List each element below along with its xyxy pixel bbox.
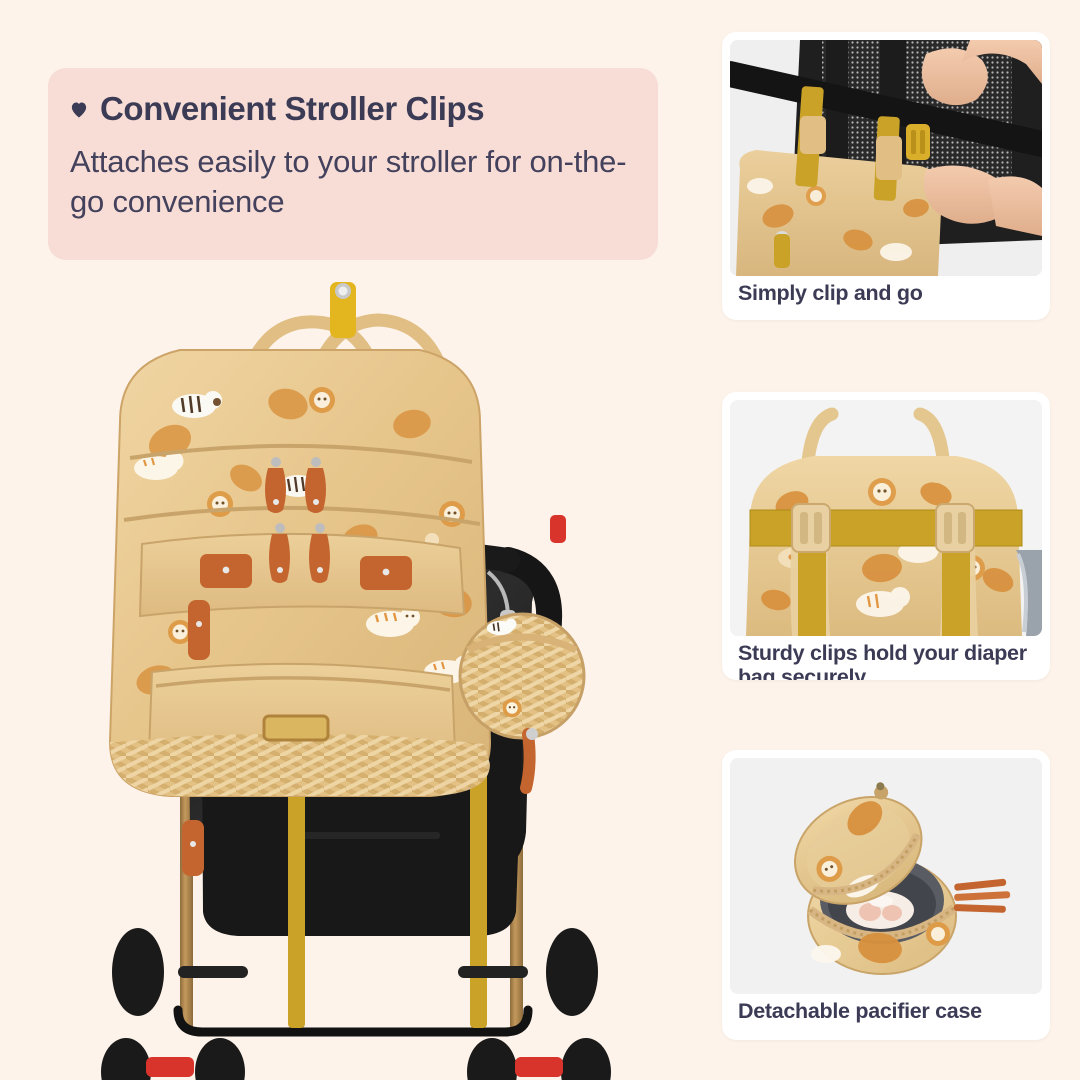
infographic-root: Convenient Stroller Clips Attaches easil… <box>0 0 1080 1080</box>
feature-card-image <box>730 400 1042 636</box>
headline-panel: Convenient Stroller Clips Attaches easil… <box>48 68 658 260</box>
headline-subtitle: Attaches easily to your stroller for on-… <box>70 142 636 221</box>
headline-row: Convenient Stroller Clips <box>70 90 640 128</box>
heart-icon <box>70 101 88 119</box>
feature-card-image <box>730 40 1042 276</box>
feature-card[interactable]: Detachable pacifier case <box>722 750 1050 1040</box>
page-title: Convenient Stroller Clips <box>100 90 484 128</box>
feature-card-image <box>730 758 1042 994</box>
feature-card[interactable]: Sturdy clips hold your diaper bag secure… <box>722 392 1050 680</box>
feature-card[interactable]: Simply clip and go <box>722 32 1050 320</box>
hero-product-image <box>60 272 660 1080</box>
feature-card-caption: Detachable pacifier case <box>738 1000 1040 1024</box>
feature-card-caption: Simply clip and go <box>738 282 1040 306</box>
feature-card-caption: Sturdy clips hold your diaper bag secure… <box>738 642 1040 680</box>
